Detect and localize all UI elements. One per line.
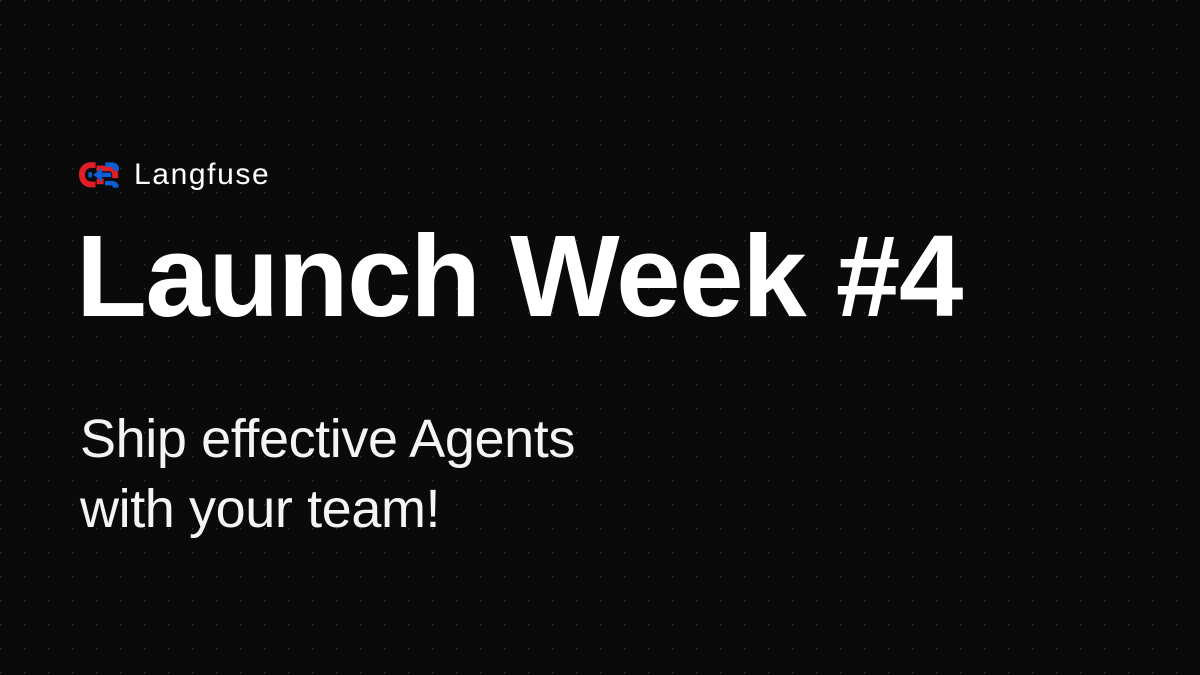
page-subtitle-line-1: Ship effective Agents (80, 404, 575, 474)
langfuse-logo-icon (78, 160, 120, 190)
brand-lockup[interactable]: Langfuse (78, 155, 270, 195)
page-title: Launch Week #4 (76, 218, 962, 334)
page-subtitle: Ship effective Agents with your team! (80, 404, 575, 544)
page-subtitle-line-2: with your team! (80, 474, 575, 544)
launch-week-hero-banner: Langfuse Launch Week #4 Ship effective A… (0, 0, 1200, 675)
brand-name: Langfuse (134, 160, 270, 190)
